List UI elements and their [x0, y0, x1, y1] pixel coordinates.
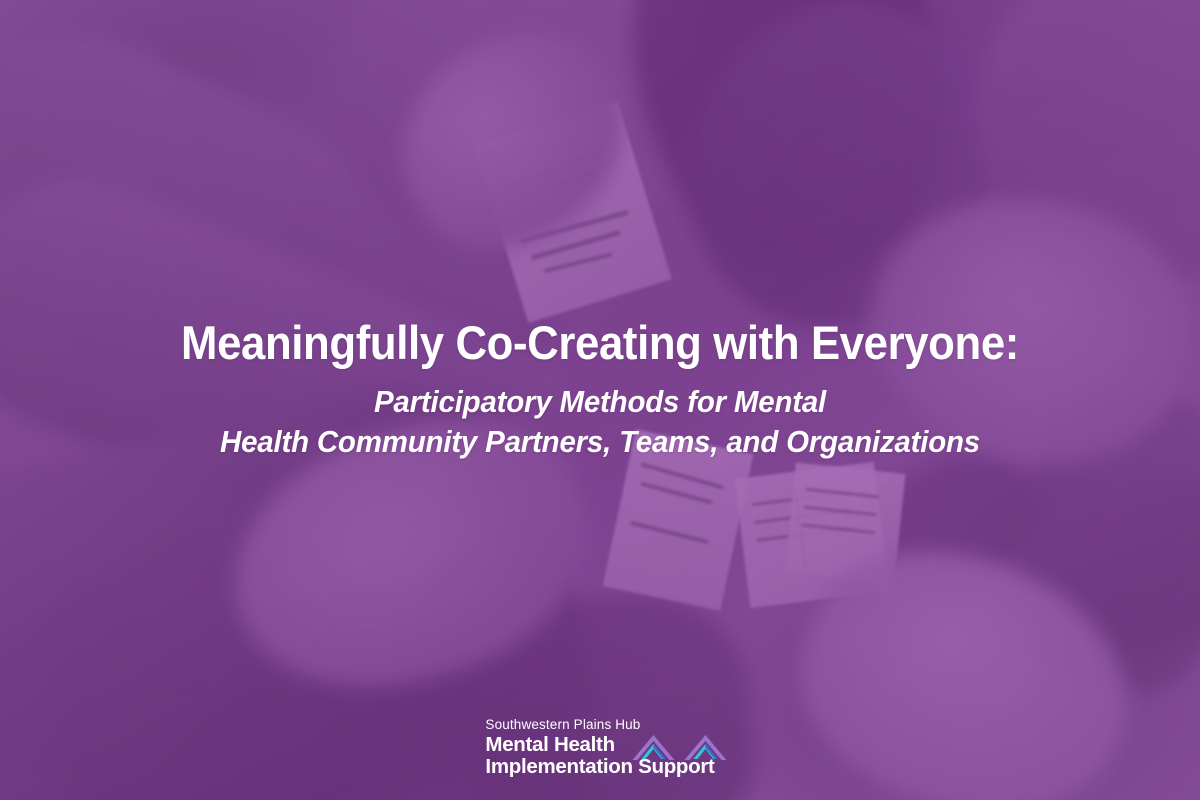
- logo-name-line-1: Mental Health: [485, 733, 614, 756]
- mountain-peaks-icon: [631, 733, 727, 763]
- title-slide: Meaningfully Co-Creating with Everyone: …: [0, 0, 1200, 800]
- page-subtitle-line-2: Health Community Partners, Teams, and Or…: [68, 422, 1132, 462]
- logo-eyebrow: Southwestern Plains Hub: [485, 717, 640, 733]
- title-text-block: Meaningfully Co-Creating with Everyone: …: [0, 318, 1200, 462]
- page-subtitle-line-1: Participatory Methods for Mental: [68, 382, 1132, 422]
- page-title: Meaningfully Co-Creating with Everyone:: [79, 318, 1121, 368]
- organization-logo: Southwestern Plains Hub Mental Health Im…: [485, 717, 714, 778]
- page-subtitle: Participatory Methods for Mental Health …: [68, 382, 1132, 463]
